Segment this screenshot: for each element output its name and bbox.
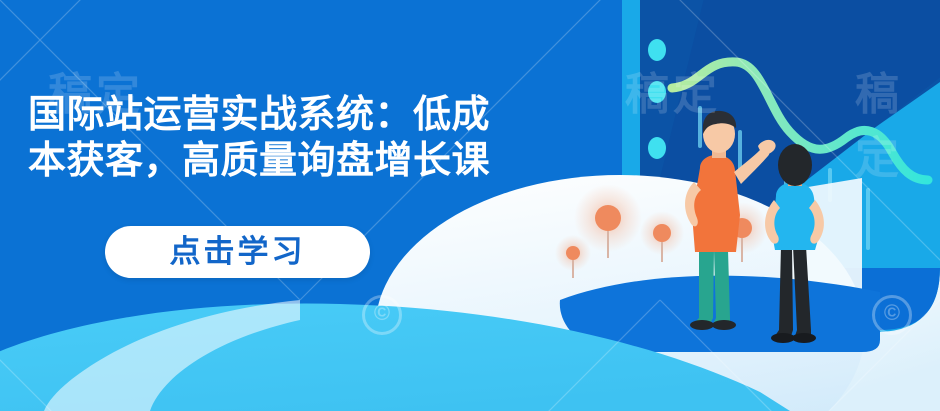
course-promo-banner: 稿定 稿定 稿定 © © 国际站运营实战系统：低成 本获客，高质量询盘增长课 点… [0,0,940,411]
copyright-watermark-right: © [872,295,912,335]
dome-backdrop [375,175,865,411]
wave-highlight [44,300,300,411]
banner-title: 国际站运营实战系统：低成 本获客，高质量询盘增长课 [28,92,608,184]
brand-watermark-center: 稿定 [625,58,721,122]
title-line-1: 国际站运营实战系统：低成 [28,92,608,138]
title-line-2: 本获客，高质量询盘增长课 [28,138,608,184]
panel-tick-marks [700,108,868,248]
figure-presenter [685,111,776,330]
stage-platform [560,276,880,352]
copyright-watermark-left: © [362,295,402,335]
figure-student [765,144,824,343]
brand-watermark-right: 稿定 [855,58,940,186]
data-point-markers [555,184,768,278]
accent-dot-3 [648,137,666,159]
whiteboard-shape [790,178,862,322]
click-to-learn-button[interactable]: 点击学习 [105,226,370,278]
